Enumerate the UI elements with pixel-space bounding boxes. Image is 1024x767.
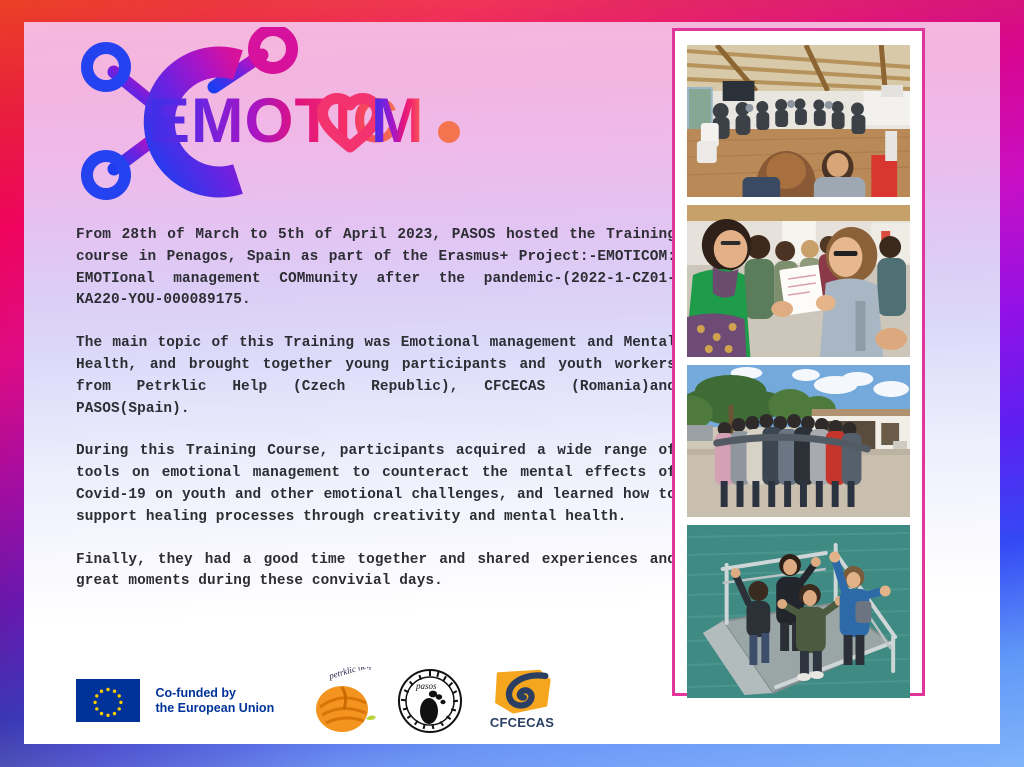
emoticom-logo: EMOTIC M <box>66 27 496 212</box>
body-copy: From 28th of March to 5th of April 2023,… <box>76 225 676 593</box>
emoticom-logo-svg: EMOTIC M <box>66 27 496 212</box>
logo-node-bottom-left <box>87 156 125 194</box>
photo-collage-frame <box>672 28 925 696</box>
paragraph-4: Finally, they had a good time together a… <box>76 550 676 594</box>
paragraph-3: During this Training Course, participant… <box>76 441 676 528</box>
cfcecas-logo: CFCECAS <box>480 667 564 737</box>
eu-stars-icon <box>76 679 140 722</box>
logo-node-top-right <box>254 30 292 68</box>
eu-cofunded-logo: Co-funded by the European Union <box>76 679 274 722</box>
logo-wordmark-part2: M <box>371 86 424 156</box>
cfcecas-logo-icon <box>480 667 564 719</box>
eu-cofunded-line2: the European Union <box>155 701 274 715</box>
photo-pier-wave <box>687 525 910 698</box>
photo-circle-session <box>687 45 910 197</box>
photo-circle-session-image <box>687 45 910 197</box>
photo-paper-exchange-image <box>687 205 910 357</box>
eu-flag-icon <box>76 679 140 722</box>
petrklic-help-wordmark: petrklic help <box>327 667 375 681</box>
photo-paper-exchange <box>687 205 910 357</box>
petrklic-help-logo-icon: petrklic help <box>308 667 380 735</box>
photo-pier-wave-image <box>687 525 910 698</box>
eu-cofunded-text: Co-funded by the European Union <box>155 686 274 716</box>
petrklic-help-logo: petrklic help <box>308 667 380 735</box>
eu-cofunded-line1: Co-funded by <box>155 686 236 700</box>
photo-group-hug <box>687 365 910 517</box>
logo-node-top-left <box>87 48 125 86</box>
slide-canvas: EMOTIC M From 28th of March to 5th of Ap… <box>0 0 1024 767</box>
logo-period-dot <box>438 121 460 143</box>
cfcecas-wordmark: CFCECAS <box>480 715 564 730</box>
paragraph-1: From 28th of March to 5th of April 2023,… <box>76 225 676 312</box>
pasos-wordmark: pasos <box>415 681 437 691</box>
paragraph-2: The main topic of this Training was Emot… <box>76 333 676 420</box>
funder-logo-row: Co-funded by the European Union petrklic… <box>76 665 696 737</box>
pasos-logo-icon: pasos <box>396 667 464 735</box>
photo-group-hug-image <box>687 365 910 517</box>
pasos-logo: pasos <box>396 667 464 735</box>
